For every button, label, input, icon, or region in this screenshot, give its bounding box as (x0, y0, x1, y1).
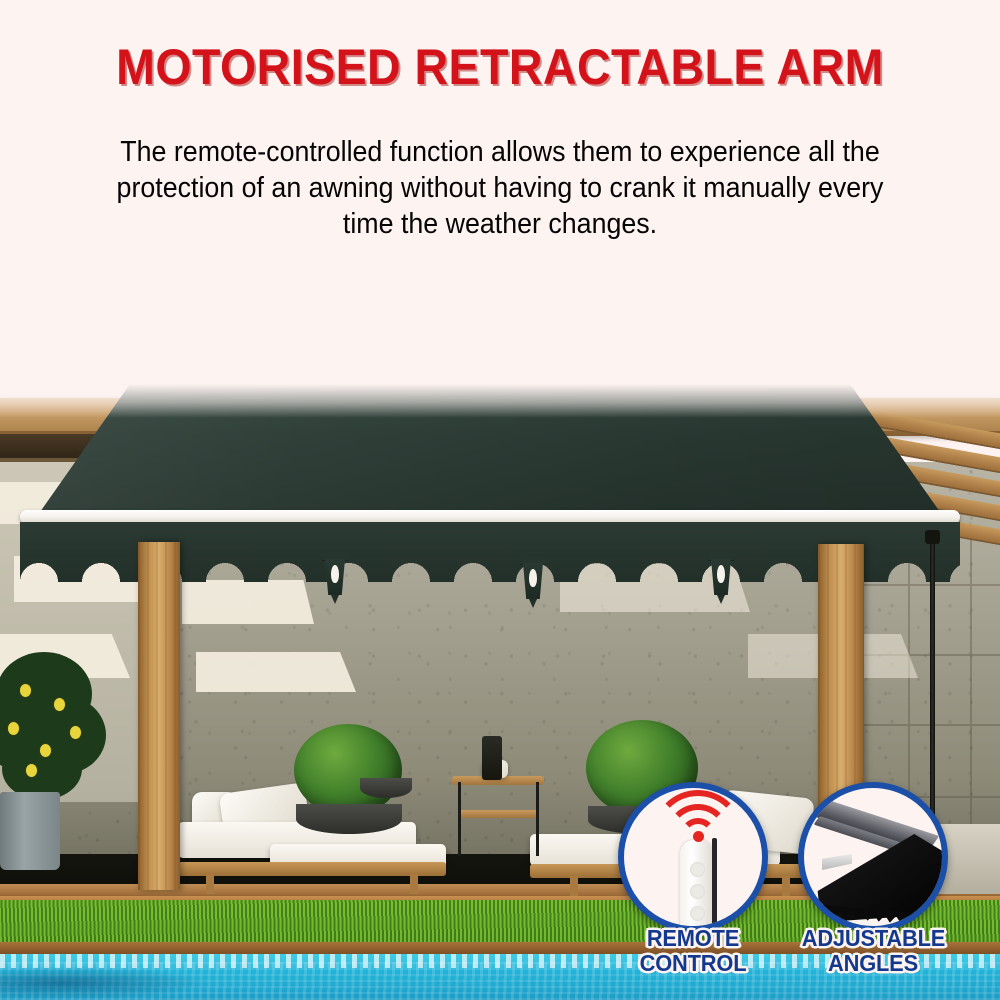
topiary-bowl (296, 804, 402, 834)
page-title: MOTORISED RETRACTABLE ARM (35, 38, 965, 96)
header-section: MOTORISED RETRACTABLE ARM The remote-con… (0, 0, 1000, 392)
awning-end-cap-icon (822, 854, 852, 870)
product-feature-banner: MOTORISED RETRACTABLE ARM The remote-con… (0, 0, 1000, 1000)
badge-circle (618, 782, 768, 932)
pole-bracket (925, 530, 940, 544)
wall-lamp (708, 552, 734, 606)
fruit-bowl (360, 778, 412, 798)
sunlight-patch (182, 580, 314, 624)
side-table (452, 776, 544, 856)
decor-lantern (482, 736, 502, 780)
wall-lamp (520, 556, 546, 610)
description-text: The remote-controlled function allows th… (88, 134, 911, 242)
signal-center-icon (693, 831, 704, 842)
badge-circle (798, 782, 948, 932)
wall-lamp (322, 552, 348, 606)
pool-shadow (0, 966, 210, 1000)
lemon-tree (0, 634, 108, 804)
sunlight-patch (196, 652, 356, 692)
remote-button-icon (690, 906, 705, 921)
badge-adjustable-angles[interactable]: ADJUSTABLE ANGLES (798, 782, 948, 997)
awning-sheen (40, 384, 940, 512)
badge-label: REMOTE CONTROL (622, 926, 765, 976)
badge-label: ADJUSTABLE ANGLES (802, 926, 945, 976)
badge-remote-control[interactable]: REMOTE CONTROL (618, 782, 768, 997)
topiary-bush (294, 724, 402, 816)
planter-pot (0, 792, 60, 870)
remote-button-icon (690, 884, 705, 899)
wooden-post (138, 542, 180, 890)
